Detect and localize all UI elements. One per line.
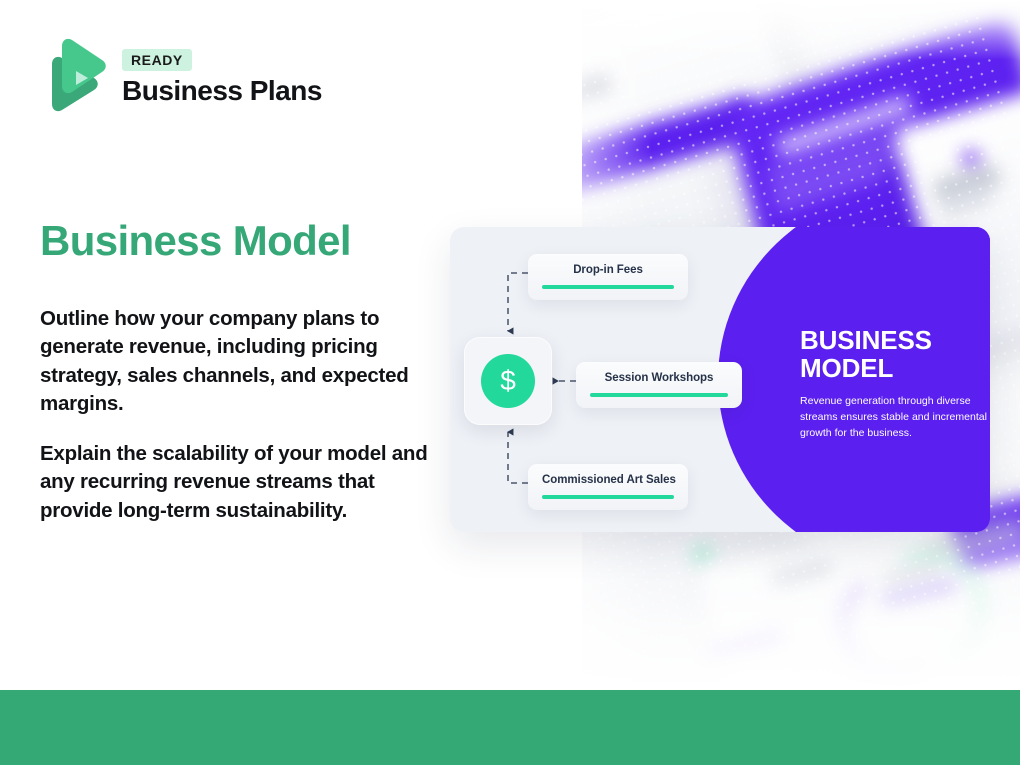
stream-label: Commissioned Art Sales: [542, 474, 674, 486]
slide-root: READY Business Plans Business Model Outl…: [0, 0, 1020, 765]
revenue-hub-tile: $: [464, 337, 552, 425]
stream-bar: [542, 285, 674, 289]
stream-label: Session Workshops: [590, 372, 728, 384]
brand-wordmark: Business Plans: [122, 75, 322, 107]
body-paragraph-1: Outline how your company plans to genera…: [40, 305, 440, 418]
brand-lockup: READY Business Plans: [40, 38, 322, 118]
purple-panel-copy: BUSINESS MODEL Revenue generation throug…: [800, 327, 990, 441]
purple-panel-description: Revenue generation through diverse strea…: [800, 394, 990, 441]
body-paragraph-2: Explain the scalability of your model an…: [40, 440, 440, 525]
ready-badge: READY: [122, 49, 192, 71]
purple-panel-title: BUSINESS MODEL: [800, 327, 990, 382]
footer-band: [0, 690, 1020, 765]
business-model-card: $ Drop-in Fees Session Workshops Commiss…: [450, 227, 990, 532]
stream-label: Drop-in Fees: [542, 264, 674, 276]
page-title: Business Model: [40, 218, 351, 263]
stream-card-session-workshops[interactable]: Session Workshops: [576, 362, 742, 408]
stream-bar: [542, 495, 674, 499]
dollar-sign-icon: $: [481, 354, 535, 408]
play-triangle-logo-icon: [40, 38, 106, 118]
stream-bar: [590, 393, 728, 397]
stream-card-drop-in-fees[interactable]: Drop-in Fees: [528, 254, 688, 300]
brand-text: READY Business Plans: [122, 49, 322, 107]
svg-text:$: $: [500, 365, 516, 396]
stream-card-commissioned-art-sales[interactable]: Commissioned Art Sales: [528, 464, 688, 510]
body-copy: Outline how your company plans to genera…: [40, 305, 440, 525]
